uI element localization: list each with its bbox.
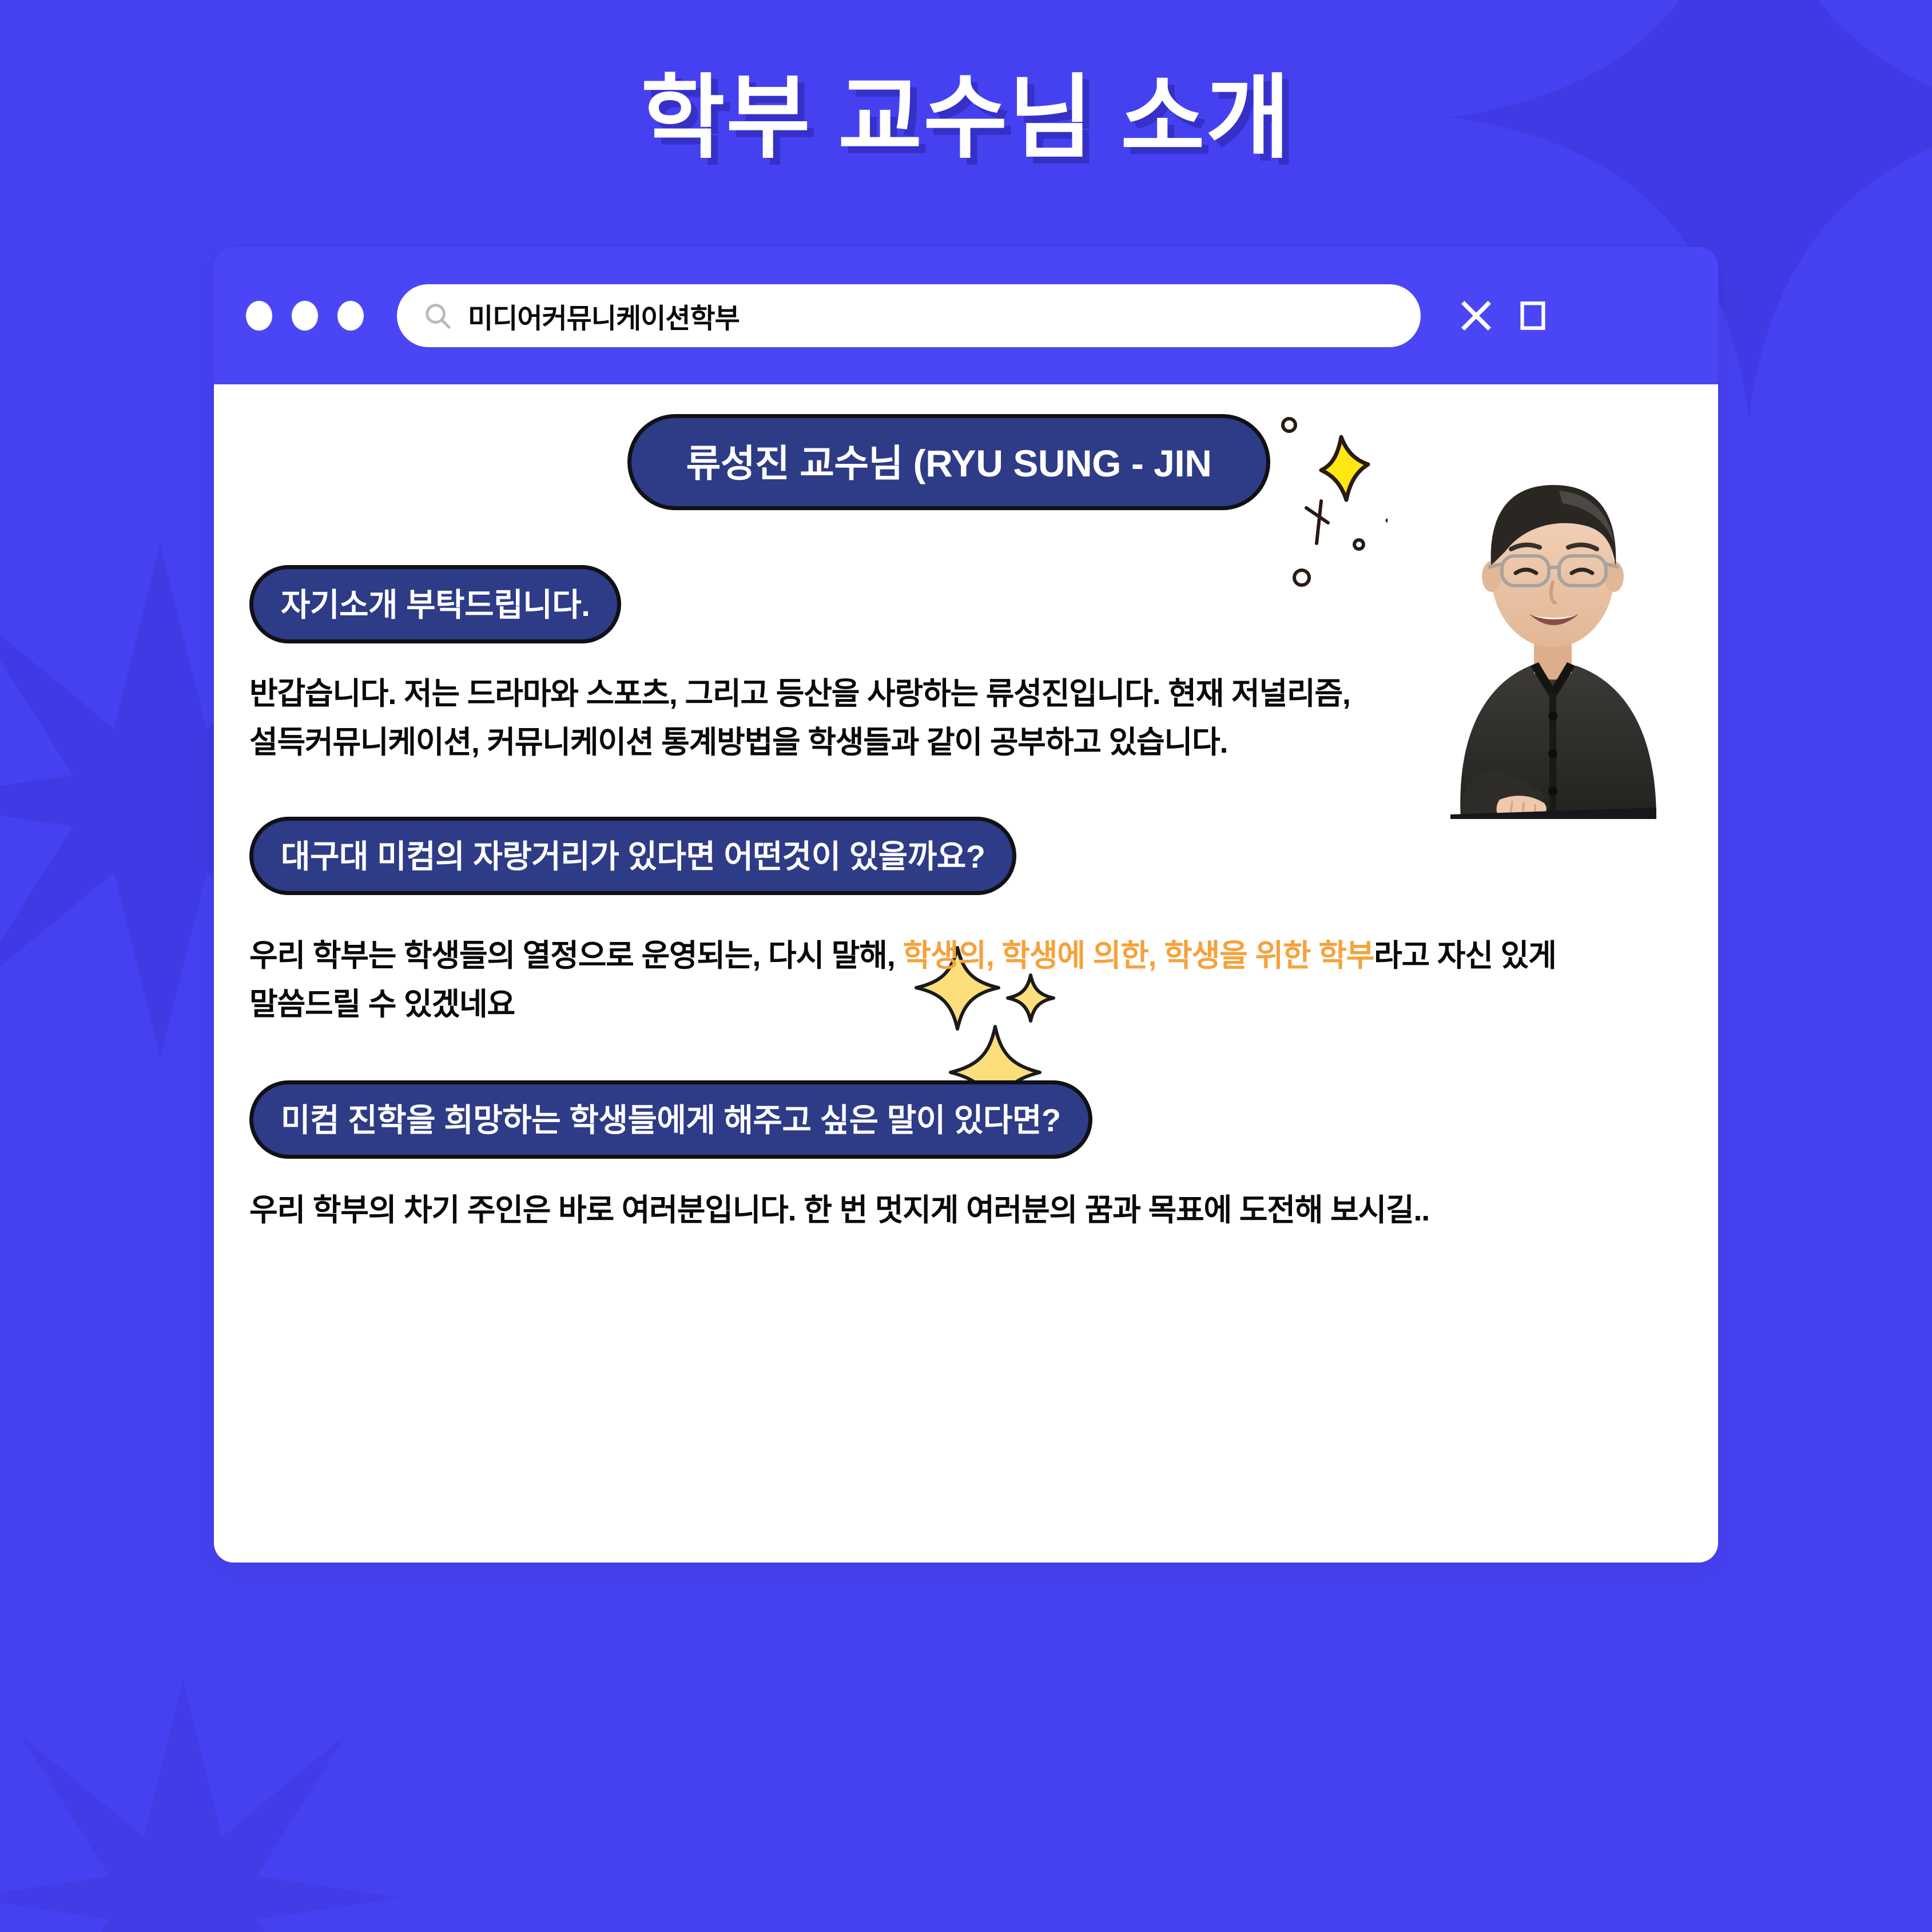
page-title: 학부 교수님 소개 bbox=[0, 67, 1932, 168]
professor-name-badge: 류성진 교수님 (RYU SUNG - JIN bbox=[627, 414, 1271, 510]
question-badge-1: 자기소개 부탁드립니다. bbox=[249, 565, 621, 643]
traffic-light-dot-3[interactable] bbox=[337, 301, 364, 331]
question-row-1: 자기소개 부탁드립니다. bbox=[249, 565, 1684, 643]
maximize-icon[interactable] bbox=[1518, 299, 1548, 332]
close-icon[interactable] bbox=[1458, 298, 1494, 333]
question-badge-3: 미컴 진학을 희망하는 학생들에게 해주고 싶은 말이 있다면? bbox=[249, 1080, 1092, 1159]
traffic-light-dots bbox=[246, 301, 364, 331]
search-icon bbox=[422, 300, 453, 331]
background-sparkle-bottom bbox=[0, 1680, 400, 1932]
question-row-2: 대구대 미컴의 자랑거리가 있다면 어떤것이 있을까요? bbox=[249, 817, 1684, 895]
qa-section: 자기소개 부탁드립니다. 반갑습니다. 저는 드라마와 스포츠, 그리고 등산을… bbox=[214, 565, 1718, 1235]
search-input[interactable]: 미디어커뮤니케이션학부 bbox=[468, 296, 740, 336]
question-row-3: 미컴 진학을 희망하는 학생들에게 해주고 싶은 말이 있다면? bbox=[249, 1080, 1684, 1159]
content-card: 류성진 교수님 (RYU SUNG - JIN 자기소개 부탁드립니다. 반갑습… bbox=[214, 384, 1718, 1563]
browser-window: 미디어커뮤니케이션학부 bbox=[214, 247, 1718, 1563]
browser-toolbar: 미디어커뮤니케이션학부 bbox=[214, 247, 1718, 384]
question-badge-2: 대구대 미컴의 자랑거리가 있다면 어떤것이 있을까요? bbox=[249, 817, 1016, 895]
answer-2-part-1: 우리 학부는 학생들의 열정으로 운영되는, 다시 말해, bbox=[249, 939, 903, 973]
answer-2-highlight: 학생의, 학생에 의한, 학생을 위한 학부 bbox=[903, 939, 1374, 973]
traffic-light-dot-2[interactable] bbox=[292, 301, 318, 331]
answer-text-3: 우리 학부의 차기 주인은 바로 여러분입니다. 한 번 멋지게 여러분의 꿈과… bbox=[249, 1186, 1513, 1235]
answer-text-1: 반갑습니다. 저는 드라마와 스포츠, 그리고 등산을 사랑하는 류성진입니다.… bbox=[249, 670, 1382, 768]
traffic-light-dot-1[interactable] bbox=[246, 301, 272, 331]
answer-text-2: 우리 학부는 학생들의 열정으로 운영되는, 다시 말해, 학생의, 학생에 의… bbox=[249, 932, 1576, 1029]
window-controls bbox=[1458, 298, 1548, 333]
search-bar[interactable]: 미디어커뮤니케이션학부 bbox=[397, 284, 1421, 347]
